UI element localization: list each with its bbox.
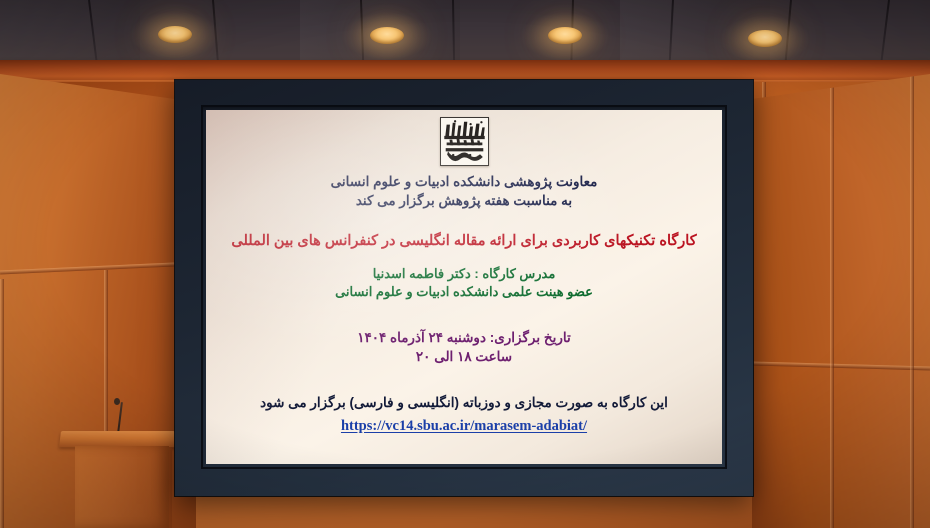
wall-panel-line	[910, 74, 914, 528]
wall-panel-line	[830, 74, 834, 528]
microphone-head	[114, 398, 120, 405]
projection-screen: معاونت پژوهشی دانشکده ادبیات و علوم انسا…	[206, 110, 722, 464]
ceiling-downlight	[548, 27, 582, 44]
slide-footer-note: این کارگاه به صورت مجازی و دوزباته (انگل…	[206, 393, 722, 412]
wall-panel-line	[0, 279, 4, 528]
right-wall	[752, 74, 930, 528]
lectern-top	[59, 431, 177, 447]
slide-meeting-link[interactable]: https://vc14.sbu.ac.ir/marasem-adabiat/	[341, 418, 587, 435]
wall-panel-line	[0, 262, 196, 275]
lectern-body	[75, 446, 169, 528]
slide-instructor-line-2: عضو هینت علمی دانشکده ادبیات و علوم انسا…	[206, 283, 722, 301]
slide-header-line-2: به مناسبت هفته پژوهش برگزار می کند	[206, 191, 722, 210]
ceiling-downlight	[370, 27, 404, 44]
lecture-hall-scene: معاونت پژوهشی دانشکده ادبیات و علوم انسا…	[0, 0, 930, 528]
slide-event-date: تاریخ برگزاری: دوشنبه ۲۴ آذرماه ۱۴۰۴	[206, 328, 722, 347]
slide-title: کارگاه تکنیکهای کاربردی برای ارائه مقاله…	[206, 231, 722, 252]
wall-panel-line	[752, 362, 930, 371]
projection-screen-frame: معاونت پژوهشی دانشکده ادبیات و علوم انسا…	[175, 80, 753, 496]
slide-content: معاونت پژوهشی دانشکده ادبیات و علوم انسا…	[206, 110, 722, 464]
slide-instructor-line-1: مدرس کارگاه : دکتر فاطمه اسدنیا	[206, 265, 722, 283]
slide-event-time: ساعت ۱۸ الی ۲۰	[206, 347, 722, 366]
ceiling-downlight	[748, 30, 782, 47]
university-logo-icon	[440, 117, 489, 166]
ceiling-downlight	[158, 26, 192, 43]
slide-header-line-1: معاونت پژوهشی دانشکده ادبیات و علوم انسا…	[206, 172, 722, 191]
